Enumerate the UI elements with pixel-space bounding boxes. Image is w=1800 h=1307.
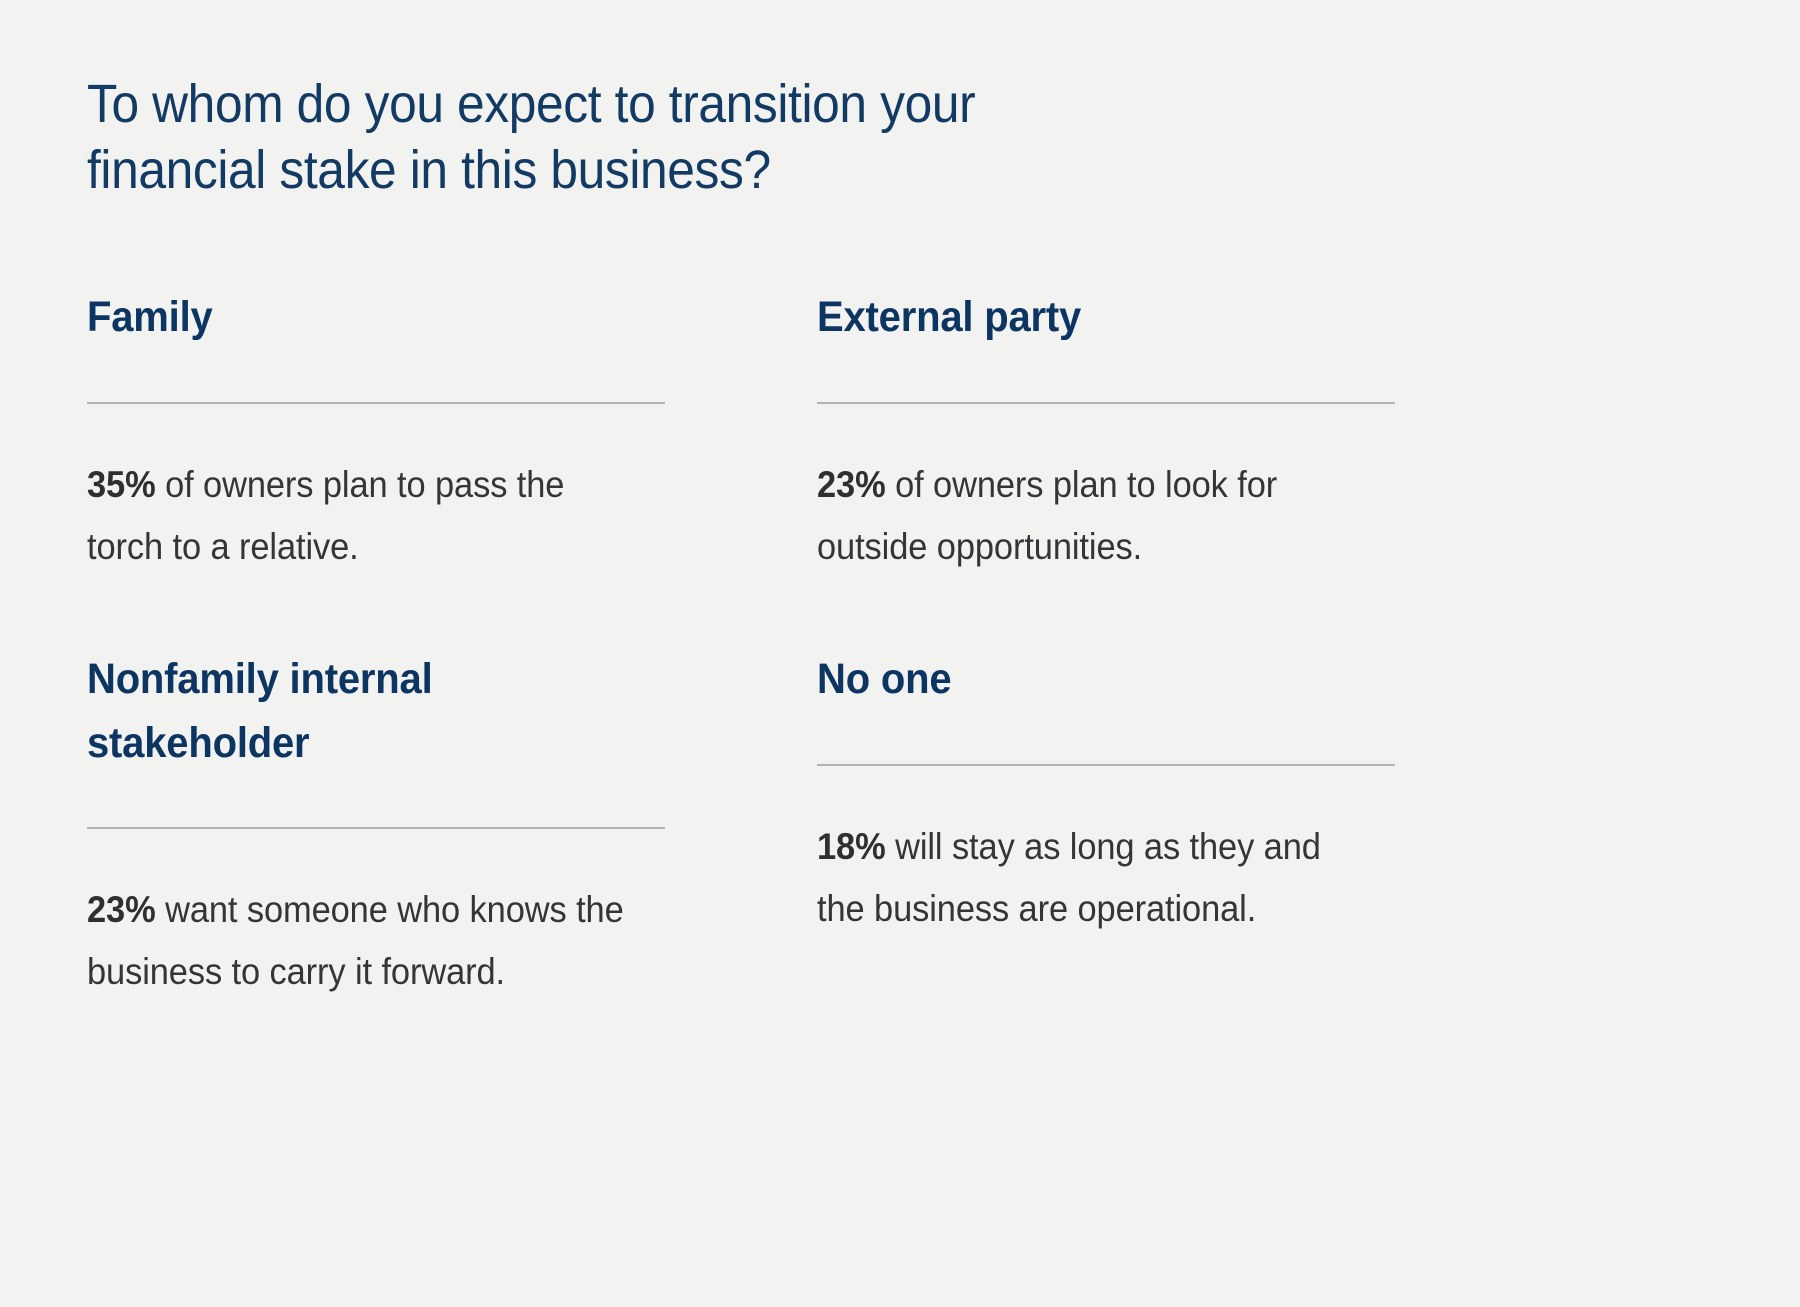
- panel-title-external-party: External party: [817, 286, 1355, 350]
- stat-description-external-party: of owners plan to look for outside oppor…: [817, 464, 1277, 567]
- stat-panel-family: Family 35% of owners plan to pass the to…: [87, 286, 665, 578]
- spacer: [87, 775, 665, 827]
- infographic-root: To whom do you expect to transition your…: [0, 0, 1800, 1307]
- stat-value-family: 35%: [87, 464, 156, 505]
- panel-title-nonfamily-internal-stakeholder: Nonfamily internal stakeholder: [87, 648, 625, 775]
- stats-grid: Family 35% of owners plan to pass the to…: [0, 0, 1800, 1307]
- stat-description-family: of owners plan to pass the torch to a re…: [87, 464, 564, 567]
- spacer: [817, 712, 1395, 764]
- spacer: [87, 404, 665, 454]
- stat-description-nonfamily-internal-stakeholder: want someone who knows the business to c…: [87, 889, 624, 992]
- panel-body-family: 35% of owners plan to pass the torch to …: [87, 454, 625, 578]
- stat-value-no-one: 18%: [817, 826, 886, 867]
- spacer: [817, 350, 1395, 402]
- panel-body-no-one: 18% will stay as long as they and the bu…: [817, 816, 1355, 940]
- stat-panel-nonfamily-internal-stakeholder: Nonfamily internal stakeholder 23% want …: [87, 648, 665, 1004]
- panel-body-nonfamily-internal-stakeholder: 23% want someone who knows the business …: [87, 879, 625, 1003]
- spacer: [87, 829, 665, 879]
- stat-panel-no-one: No one 18% will stay as long as they and…: [817, 648, 1395, 940]
- spacer: [817, 766, 1395, 816]
- stat-description-no-one: will stay as long as they and the busine…: [817, 826, 1321, 929]
- stat-value-nonfamily-internal-stakeholder: 23%: [87, 889, 156, 930]
- panel-body-external-party: 23% of owners plan to look for outside o…: [817, 454, 1355, 578]
- panel-title-no-one: No one: [817, 648, 1355, 712]
- panel-title-family: Family: [87, 286, 625, 350]
- spacer: [817, 404, 1395, 454]
- spacer: [87, 350, 665, 402]
- stat-panel-external-party: External party 23% of owners plan to loo…: [817, 286, 1395, 578]
- stat-value-external-party: 23%: [817, 464, 886, 505]
